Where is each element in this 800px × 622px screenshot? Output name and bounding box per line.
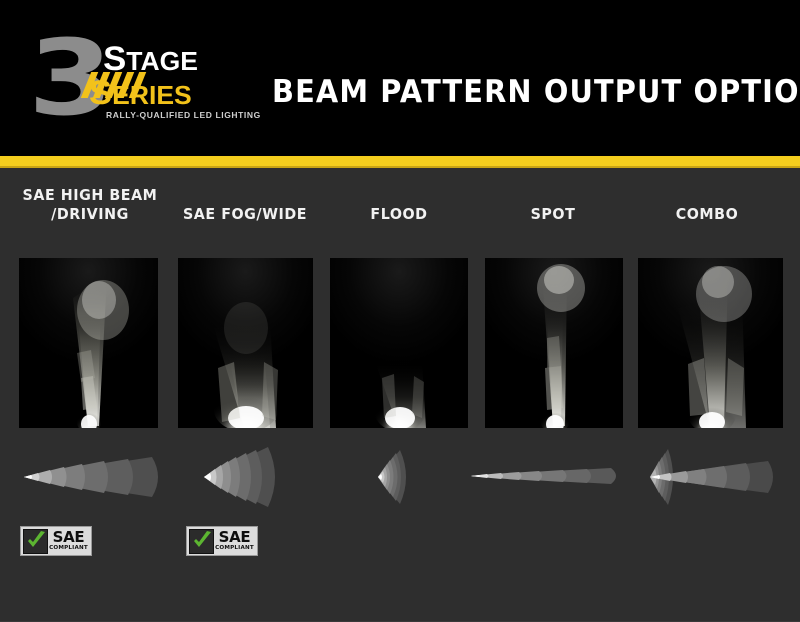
check-mark-icon [23,529,48,554]
logo-series-initial: S [89,74,112,112]
column-label-combo: COMBO [638,205,776,224]
beam-diagram-driving [18,448,168,506]
beam-photo-driving [19,258,158,428]
beam-diagram-flood [352,446,448,508]
column-label-fog-wide-line1: SAE FOG/WIDE [178,205,312,224]
column-label-combo-line1: COMBO [638,205,776,224]
logo-word-series: SERIES [89,74,192,113]
beam-photo-fog-wide [178,258,313,428]
header-bar: 3 STAGE SERIES RALLY-QUALIFIED LED LIGHT… [0,0,800,156]
column-label-spot: SPOT [486,205,620,224]
pattern-grid: SAE HIGH BEAM /DRIVING SAE FOG/WIDE FLOO… [0,168,800,622]
beam-photo-combo [638,258,783,428]
logo-tagline: RALLY-QUALIFIED LED LIGHTING [106,110,261,120]
column-label-spot-line1: SPOT [486,205,620,224]
sae-compliant-badge-fog-wide: SAE COMPLIANT [186,526,258,556]
beam-pattern-infographic: 3 STAGE SERIES RALLY-QUALIFIED LED LIGHT… [0,0,800,622]
logo-stage-rest: TAGE [126,46,198,76]
beam-diagram-combo [628,446,788,508]
column-label-driving: SAE HIGH BEAM /DRIVING [18,186,162,224]
sae-compliant-badge-driving: SAE COMPLIANT [20,526,92,556]
yellow-divider [0,156,800,168]
beam-diagram-spot [465,458,625,494]
beam-photo-flood [330,258,468,428]
column-label-flood-line1: FLOOD [332,205,466,224]
column-label-flood: FLOOD [332,205,466,224]
brand-logo: 3 STAGE SERIES RALLY-QUALIFIED LED LIGHT… [28,28,243,128]
beam-photo-spot [485,258,623,428]
column-label-driving-line2: /DRIVING [18,205,162,224]
logo-stage-initial: S [103,40,126,78]
sae-badge-title: SAE [219,530,251,545]
beam-diagram-fog-wide [186,446,316,508]
logo-series-rest: ERIES [112,80,192,110]
sae-badge-title: SAE [53,530,85,545]
column-label-fog-wide: SAE FOG/WIDE [178,205,312,224]
sae-badge-subtitle: COMPLIANT [215,546,254,552]
check-mark-icon [189,529,214,554]
page-title: BEAM PATTERN OUTPUT OPTIONS [272,74,800,110]
sae-badge-subtitle: COMPLIANT [49,546,88,552]
column-label-driving-line1: SAE HIGH BEAM [18,186,162,205]
